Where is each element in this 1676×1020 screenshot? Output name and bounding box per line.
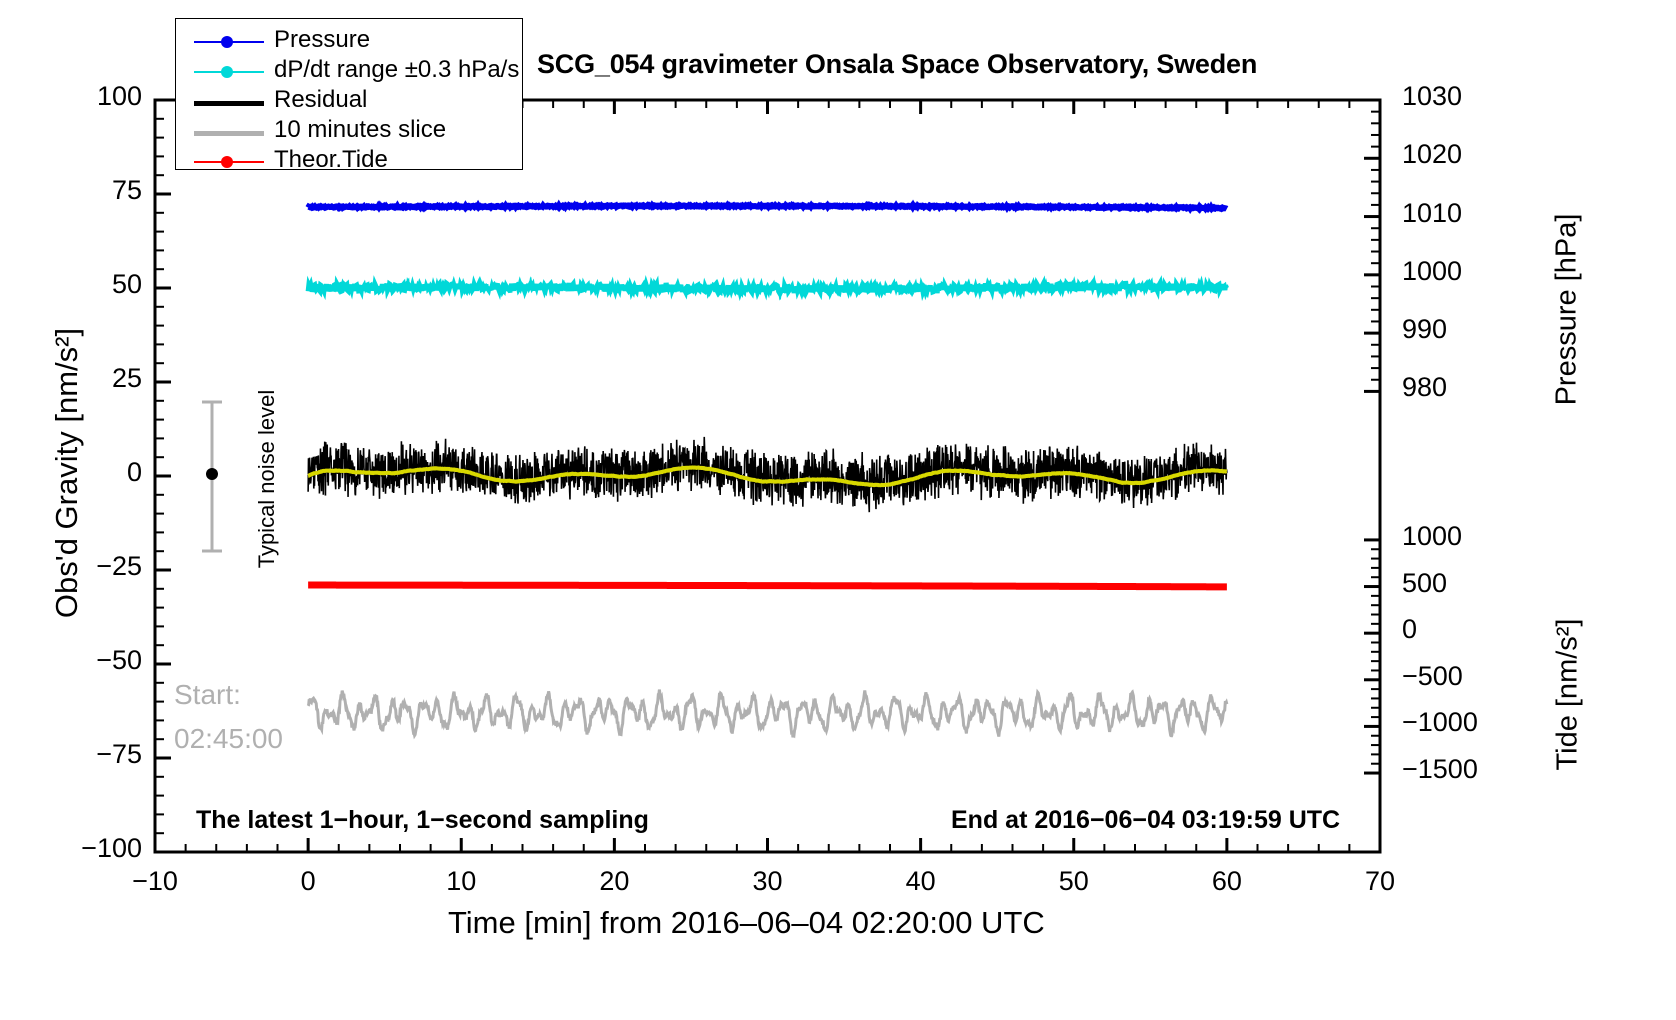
data-traces: [308, 205, 1227, 737]
y-right-tide-tick-label-5: −1500: [1402, 754, 1532, 785]
legend-line-swatch: [194, 131, 264, 136]
y-left-tick-label-5: −25: [0, 551, 142, 582]
y-left-tick-label-7: −75: [0, 739, 142, 770]
x-tick-label-3: 20: [564, 866, 664, 897]
y-right-pressure-tick-label-1: 1020: [1402, 139, 1522, 170]
y-right-pressure-tick-label-2: 1010: [1402, 198, 1522, 229]
y-right-tide-tick-label-3: −500: [1402, 661, 1532, 692]
x-tick-label-2: 10: [411, 866, 511, 897]
gravimeter-chart-figure: SCG_054 gravimeter Onsala Space Observat…: [0, 0, 1676, 1020]
legend-item-dp-dt-range-0-3-hpa-s[interactable]: dP/dt range ±0.3 hPa/s: [176, 57, 522, 87]
y-left-tick-label-8: −100: [0, 833, 142, 864]
legend-marker-dot: [221, 156, 233, 168]
legend-item-label: Pressure: [274, 26, 370, 54]
trace-theoretical-tide: [308, 585, 1227, 587]
legend-item-label: 10 minutes slice: [274, 116, 446, 144]
y-left-tick-label-3: 25: [0, 363, 142, 394]
y-right-tide-tick-label-4: −1000: [1402, 707, 1532, 738]
x-tick-label-8: 70: [1330, 866, 1430, 897]
y-left-tick-label-4: 0: [0, 457, 142, 488]
legend-item-residual[interactable]: Residual: [176, 87, 522, 117]
legend-marker-dot: [221, 36, 233, 48]
y-right-pressure-tick-label-4: 990: [1402, 314, 1522, 345]
trace-dpdt-range: [308, 283, 1227, 292]
legend-marker-dot: [221, 66, 233, 78]
legend-item-label: dP/dt range ±0.3 hPa/s: [274, 56, 519, 84]
legend-item-label: Residual: [274, 86, 367, 114]
y-right-pressure-tick-label-5: 980: [1402, 372, 1522, 403]
x-tick-label-7: 60: [1177, 866, 1277, 897]
legend: PressuredP/dt range ±0.3 hPa/sResidual10…: [175, 18, 523, 170]
x-tick-label-6: 50: [1024, 866, 1124, 897]
y-right-pressure-tick-label-0: 1030: [1402, 81, 1522, 112]
legend-item-label: Theor.Tide: [274, 146, 388, 174]
y-left-tick-label-2: 50: [0, 269, 142, 300]
y-right-tide-tick-label-1: 500: [1402, 568, 1532, 599]
x-tick-label-1: 0: [258, 866, 358, 897]
y-left-tick-label-0: 100: [0, 81, 142, 112]
y-right-tide-tick-label-0: 1000: [1402, 521, 1532, 552]
y-right-tide-tick-label-2: 0: [1402, 614, 1532, 645]
legend-item-theor-tide[interactable]: Theor.Tide: [176, 147, 522, 177]
legend-item-pressure[interactable]: Pressure: [176, 27, 522, 57]
legend-line-swatch: [194, 101, 264, 106]
x-tick-label-0: −10: [105, 866, 205, 897]
y-right-pressure-tick-label-3: 1000: [1402, 256, 1522, 287]
trace-ten-minutes-slice: [308, 690, 1227, 738]
legend-item-10-minutes-slice[interactable]: 10 minutes slice: [176, 117, 522, 147]
y-left-tick-label-6: −50: [0, 645, 142, 676]
typical-noise-errorbar: [202, 402, 222, 551]
y-left-tick-label-1: 75: [0, 175, 142, 206]
x-tick-label-4: 30: [718, 866, 818, 897]
x-tick-label-5: 40: [871, 866, 971, 897]
trace-pressure: [308, 205, 1227, 208]
